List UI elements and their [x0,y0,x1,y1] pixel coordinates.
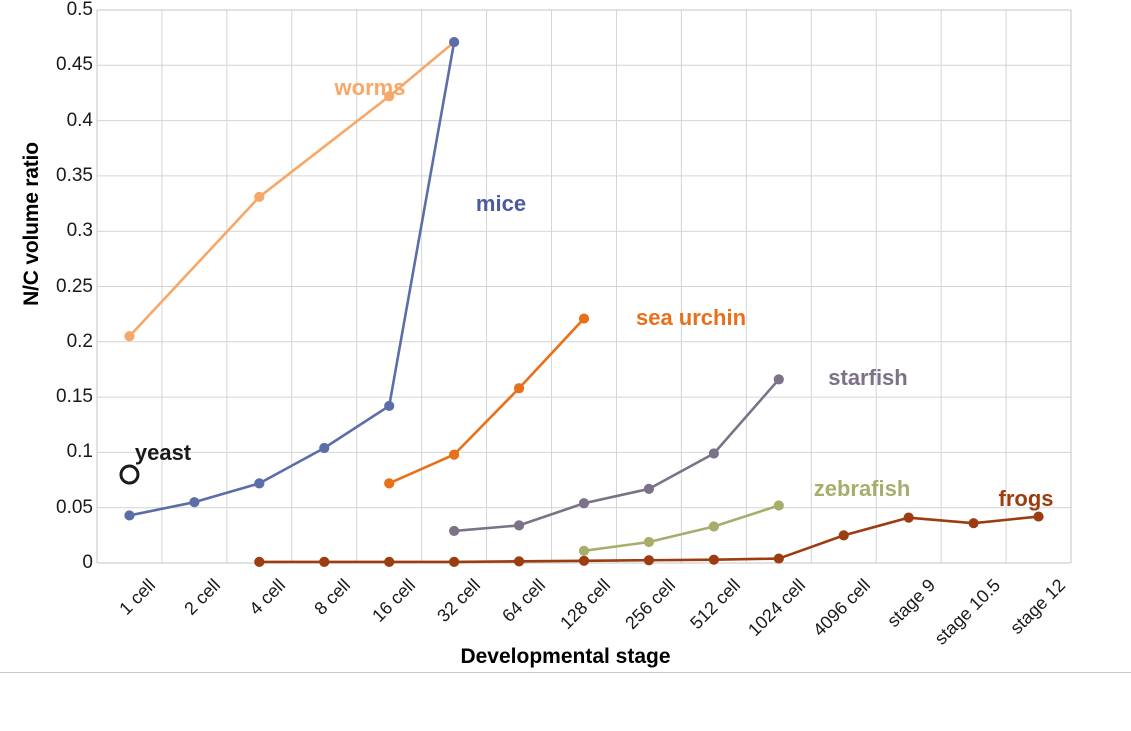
y-tick-label: 0.05 [3,497,93,519]
data-point-marker [774,375,783,384]
y-tick-label: 0 [3,552,93,574]
data-point-marker [450,37,459,46]
y-tick-label: 0.15 [3,386,93,408]
series-label-zebrafish: zebrafish [814,476,911,502]
data-point-marker [190,498,199,507]
y-tick-label: 0.25 [3,276,93,298]
data-point-marker [774,501,783,510]
data-point-marker [644,537,653,546]
data-point-marker [839,531,848,540]
y-tick-label: 0.4 [3,110,93,132]
data-point-marker [1034,512,1043,521]
y-axis-tick-labels: 00.050.10.150.20.250.30.350.40.450.5 [0,0,93,677]
data-point-marker [125,332,134,341]
data-point-marker [255,479,264,488]
data-point-marker [644,556,653,565]
data-point-marker [579,314,588,323]
y-tick-label: 0.3 [3,220,93,242]
data-point-marker [644,484,653,493]
x-axis-title: Developmental stage [0,645,1131,669]
data-point-marker [709,449,718,458]
bottom-divider [0,672,1131,673]
data-point-marker [774,554,783,563]
plot-area [0,0,1131,677]
data-point-marker [320,557,329,566]
data-point-marker [450,450,459,459]
data-point-marker [450,557,459,566]
data-point-marker [320,443,329,452]
data-point-marker [385,557,394,566]
data-point-marker [579,499,588,508]
data-point-marker [514,557,523,566]
data-point-marker [255,557,264,566]
data-point-marker [385,401,394,410]
y-tick-label: 0.45 [3,54,93,76]
data-point-marker [514,384,523,393]
data-point-marker [709,522,718,531]
series-label-sea-urchin: sea urchin [636,305,746,331]
grid-lines [97,10,1071,563]
y-tick-label: 0.2 [3,331,93,353]
data-point-marker [709,555,718,564]
data-point-marker [969,519,978,528]
series-label-yeast: yeast [135,440,191,466]
data-point-marker [514,521,523,530]
series-label-starfish: starfish [828,365,907,391]
chart-container: N/C volume ratio Developmental stage 00.… [0,0,1131,677]
y-tick-label: 0.5 [3,0,93,21]
data-point-marker [579,556,588,565]
y-tick-label: 0.35 [3,165,93,187]
single-markers [121,466,138,483]
data-point-marker [450,526,459,535]
data-point-marker [255,192,264,201]
series-label-worms: worms [335,75,406,101]
data-point-marker [385,479,394,488]
yeast-marker-icon [121,466,138,483]
series-label-frogs: frogs [999,486,1054,512]
series-label-mice: mice [476,191,526,217]
data-point-marker [904,513,913,522]
y-tick-label: 0.1 [3,441,93,463]
data-point-marker [579,546,588,555]
data-point-marker [125,511,134,520]
